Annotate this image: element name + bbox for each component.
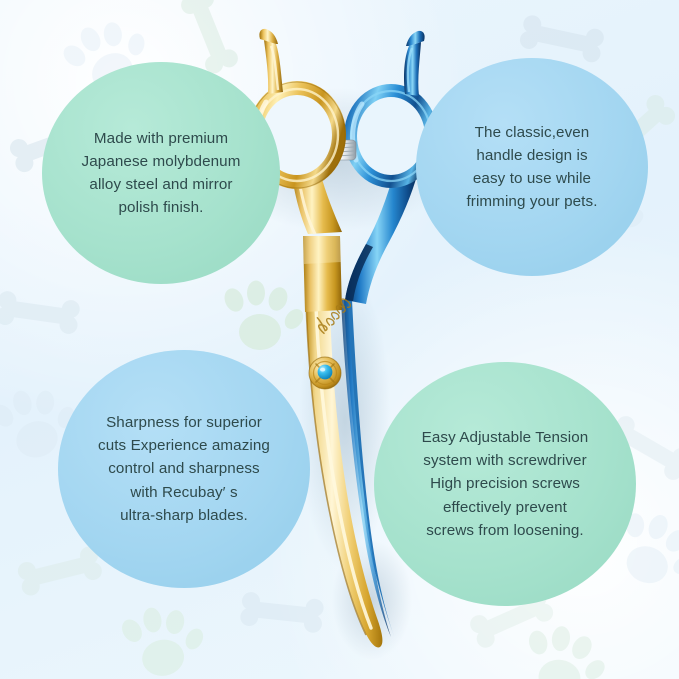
- feature-text-handle: The classic,even handle design is easy t…: [458, 121, 605, 213]
- feature-text-sharpness: Sharpness for superior cuts Experience a…: [90, 411, 278, 526]
- feature-circle-handle[interactable]: The classic,even handle design is easy t…: [416, 58, 648, 276]
- feature-circle-material[interactable]: Made with premium Japanese molybdenum al…: [42, 62, 280, 284]
- feature-circle-tension[interactable]: Easy Adjustable Tension system with scre…: [374, 362, 636, 606]
- feature-text-material: Made with premium Japanese molybdenum al…: [74, 127, 249, 219]
- feature-circle-sharpness[interactable]: Sharpness for superior cuts Experience a…: [58, 350, 310, 588]
- feature-text-tension: Easy Adjustable Tension system with scre…: [414, 426, 597, 541]
- infographic-canvas: Made with premium Japanese molybdenum al…: [0, 0, 679, 679]
